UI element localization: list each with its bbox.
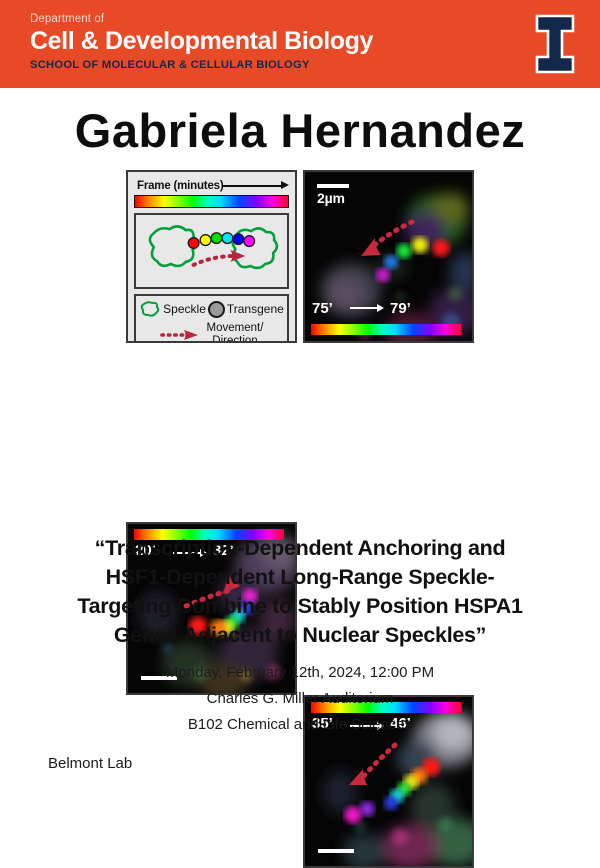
transgene-dot bbox=[211, 233, 222, 244]
talk-title: “Transcription-Dependent Anchoring and H… bbox=[34, 534, 566, 650]
schematic-colorbar bbox=[134, 195, 289, 208]
frame-minutes-label: Frame (minutes) bbox=[137, 180, 223, 192]
scale-bar-2um bbox=[317, 184, 349, 188]
legend-row-symbols: Speckle Transgene bbox=[136, 298, 287, 320]
illinois-block-i-logo bbox=[532, 14, 578, 74]
schematic-panel: Frame (minutes) bbox=[126, 170, 297, 343]
transgene-dot bbox=[200, 235, 211, 246]
talk-title-line-1: “Transcription-Dependent Anchoring and bbox=[95, 536, 506, 560]
transgene-dot bbox=[233, 234, 244, 245]
movement-arrow-dashes bbox=[194, 256, 232, 265]
legend-speckle-label: Speckle bbox=[163, 303, 206, 316]
talk-title-line-3: Targeting Combine to Stably Position HSP… bbox=[77, 594, 522, 618]
legend-movement-line1: Movement/ bbox=[207, 322, 264, 334]
talk-details: Monday, February 12th, 2024, 12:00 PM Ch… bbox=[0, 660, 600, 738]
department-of-label: Department of bbox=[30, 12, 490, 26]
header-banner: Department of Cell & Developmental Biolo… bbox=[0, 0, 600, 88]
figure-grid: Frame (minutes) bbox=[126, 170, 474, 522]
speckle-legend-icon bbox=[139, 301, 161, 318]
transgene-dot bbox=[222, 233, 233, 244]
time-start-label-75: 75’ bbox=[312, 300, 333, 317]
header-text-block: Department of Cell & Developmental Biolo… bbox=[30, 12, 490, 73]
transgene-legend-icon bbox=[208, 301, 225, 318]
frame-direction-arrow-icon bbox=[222, 181, 289, 191]
talk-datetime: Monday, February 12th, 2024, 12:00 PM bbox=[0, 660, 600, 686]
schematic-legend-box: Speckle Transgene Movement/ Direction bbox=[134, 294, 289, 343]
speaker-name: Gabriela Hernandez bbox=[0, 103, 600, 158]
department-name: Cell & Developmental Biology bbox=[30, 27, 490, 56]
talk-venue: Charles G. Miller Auditorium bbox=[0, 686, 600, 712]
school-name: SCHOOL OF MOLECULAR & CELLULAR BIOLOGY bbox=[30, 58, 490, 73]
legend-movement-label: Movement/ Direction bbox=[207, 322, 264, 343]
lab-name: Belmont Lab bbox=[48, 755, 132, 772]
talk-address: B102 Chemical and Life Sciences bbox=[0, 712, 600, 738]
transgene-dot bbox=[244, 236, 255, 247]
transgene-dot bbox=[188, 238, 199, 249]
scale-bar bbox=[318, 849, 354, 853]
frame-label-row: Frame (minutes) bbox=[134, 177, 289, 194]
scale-bar-label: 2µm bbox=[317, 190, 345, 206]
legend-row-movement: Movement/ Direction bbox=[136, 320, 287, 343]
speckle-diagram-svg bbox=[136, 215, 287, 287]
micrograph-panel-75-79: 2µm 75’ 79’ bbox=[303, 170, 474, 343]
legend-transgene-label: Transgene bbox=[227, 303, 284, 316]
talk-title-line-4: Genes Adjacent to Nuclear Speckles” bbox=[114, 623, 486, 647]
talk-title-line-2: HSF1-Dependent Long-Range Speckle- bbox=[106, 565, 495, 589]
speckle-diagram-box bbox=[134, 213, 289, 289]
time-end-label-79: 79’ bbox=[390, 300, 411, 317]
legend-movement-line2: Direction bbox=[212, 335, 257, 343]
time-direction-arrow-icon bbox=[350, 303, 384, 312]
panel-colorbar-75-79 bbox=[311, 324, 461, 335]
movement-arrow-legend-icon bbox=[160, 328, 202, 342]
